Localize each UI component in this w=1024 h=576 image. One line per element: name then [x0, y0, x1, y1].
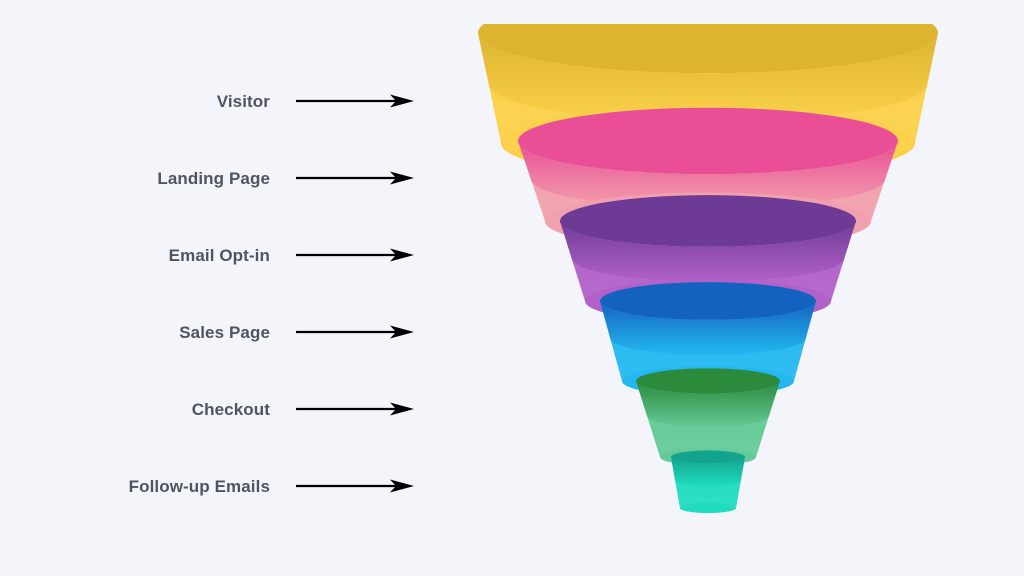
stage-row-visitor[interactable]: Visitor: [0, 84, 430, 118]
stage-arrow-landing-page: [296, 161, 430, 195]
funnel-segment-bottom-cap: [680, 503, 736, 513]
funnel-diagram-canvas: Visitor Landing Page Email Opt-in Sales …: [0, 0, 1024, 576]
stage-arrow-email-opt-in: [296, 238, 430, 272]
arrow-right-icon: [296, 401, 414, 417]
stage-label-sales-page: Sales Page: [0, 324, 270, 341]
stage-arrow-follow-up-emails: [296, 469, 430, 503]
funnel-segment-rim: [600, 282, 816, 320]
stage-arrow-sales-page: [296, 315, 430, 349]
stage-label-checkout: Checkout: [0, 401, 270, 418]
funnel-segments-group: [478, 24, 938, 513]
arrow-right-icon: [296, 324, 414, 340]
stage-label-follow-up-emails: Follow-up Emails: [0, 478, 270, 495]
stage-row-checkout[interactable]: Checkout: [0, 392, 430, 426]
funnel-chart: [440, 24, 1000, 544]
stage-row-landing-page[interactable]: Landing Page: [0, 161, 430, 195]
stage-row-follow-up-emails[interactable]: Follow-up Emails: [0, 469, 430, 503]
stage-row-email-opt-in[interactable]: Email Opt-in: [0, 238, 430, 272]
stage-label-landing-page: Landing Page: [0, 170, 270, 187]
stage-arrow-visitor: [296, 84, 430, 118]
funnel-segment[interactable]: [671, 451, 745, 513]
stage-label-visitor: Visitor: [0, 93, 270, 110]
funnel-segment-rim: [560, 195, 856, 247]
arrow-right-icon: [296, 170, 414, 186]
arrow-right-icon: [296, 478, 414, 494]
arrow-right-icon: [296, 247, 414, 263]
stage-label-email-opt-in: Email Opt-in: [0, 247, 270, 264]
funnel-segment-rim: [518, 108, 898, 174]
funnel-segment-rim: [671, 451, 745, 464]
arrow-right-icon: [296, 93, 414, 109]
stage-arrow-checkout: [296, 392, 430, 426]
stage-row-sales-page[interactable]: Sales Page: [0, 315, 430, 349]
funnel-segment-rim: [636, 368, 780, 393]
